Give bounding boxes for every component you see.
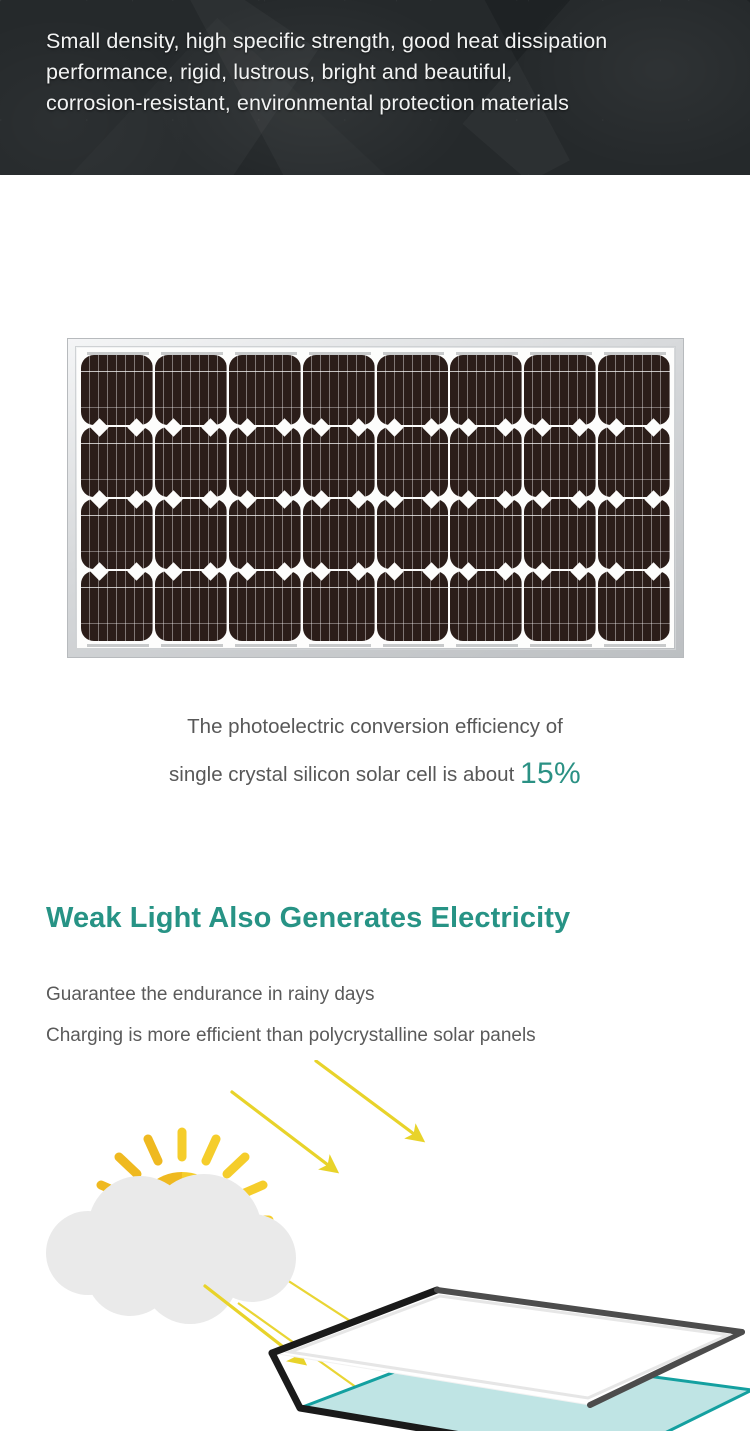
solar-cell <box>524 499 596 569</box>
header-line-2: performance, rigid, lustrous, bright and… <box>46 57 736 88</box>
solar-cell <box>377 571 449 641</box>
solar-cell <box>303 355 375 425</box>
solar-cell <box>81 427 153 497</box>
busbar-strip <box>604 644 666 647</box>
solar-cell <box>303 499 375 569</box>
solar-cell <box>598 355 670 425</box>
solar-cell <box>303 427 375 497</box>
caption-line-2: single crystal silicon solar cell is abo… <box>0 751 750 799</box>
cloud-icon <box>46 1174 296 1324</box>
monocrystalline-solar-panel-image <box>67 338 684 658</box>
solar-cell <box>377 355 449 425</box>
illustration-svg <box>0 1060 750 1431</box>
busbar-strip <box>87 644 149 647</box>
caption-line-1: The photoelectric conversion efficiency … <box>0 703 750 751</box>
solar-cell <box>229 499 301 569</box>
header-line-1: Small density, high specific strength, g… <box>46 26 736 57</box>
header-feature-text: Small density, high specific strength, g… <box>46 26 736 119</box>
solar-cell <box>303 571 375 641</box>
solar-cell <box>81 355 153 425</box>
solar-cell <box>155 499 227 569</box>
solar-cell <box>229 427 301 497</box>
solar-cell <box>229 355 301 425</box>
solar-cell <box>524 355 596 425</box>
busbar-strip <box>309 352 371 355</box>
busbar-strip <box>383 352 445 355</box>
busbar-strip <box>161 352 223 355</box>
busbar-strip <box>235 644 297 647</box>
solar-cell <box>450 571 522 641</box>
isometric-solar-panel <box>272 1290 750 1431</box>
weak-light-illustration <box>0 1060 750 1431</box>
busbar-strip <box>309 644 371 647</box>
busbar-strip <box>161 644 223 647</box>
caption-line-2-text: single crystal silicon solar cell is abo… <box>169 763 514 786</box>
sunlight-arrow <box>316 1061 418 1137</box>
solar-cell <box>598 427 670 497</box>
busbar-strip <box>530 644 592 647</box>
solar-cell <box>524 571 596 641</box>
solar-cell <box>155 571 227 641</box>
solar-cell <box>377 427 449 497</box>
header-line-3: corrosion-resistant, environmental prote… <box>46 88 736 119</box>
solar-cell <box>598 571 670 641</box>
panel-efficiency-caption: The photoelectric conversion efficiency … <box>0 703 750 799</box>
solar-cell <box>377 499 449 569</box>
busbar-strip <box>456 352 518 355</box>
efficiency-value: 15% <box>520 757 581 790</box>
busbar-strip <box>383 644 445 647</box>
weak-light-heading: Weak Light Also Generates Electricity <box>46 902 570 935</box>
solar-cell <box>524 427 596 497</box>
busbar-strip <box>530 352 592 355</box>
solar-cell <box>598 499 670 569</box>
weak-light-body-line-1: Guarantee the endurance in rainy days <box>46 984 375 1006</box>
solar-cell <box>155 427 227 497</box>
solar-cell <box>450 499 522 569</box>
busbar-strip <box>456 644 518 647</box>
solar-cell <box>450 355 522 425</box>
solar-cell <box>155 355 227 425</box>
header-banner: Small density, high specific strength, g… <box>0 0 750 175</box>
solar-cell <box>450 427 522 497</box>
busbar-strip <box>235 352 297 355</box>
panel-aluminium-frame <box>67 338 684 658</box>
weak-light-body-line-2: Charging is more efficient than polycrys… <box>46 1025 536 1047</box>
solar-cell <box>81 499 153 569</box>
panel-glass-surface <box>77 348 674 648</box>
solar-cell <box>229 571 301 641</box>
busbar-strip <box>87 352 149 355</box>
busbar-strip <box>604 352 666 355</box>
solar-cell <box>81 571 153 641</box>
